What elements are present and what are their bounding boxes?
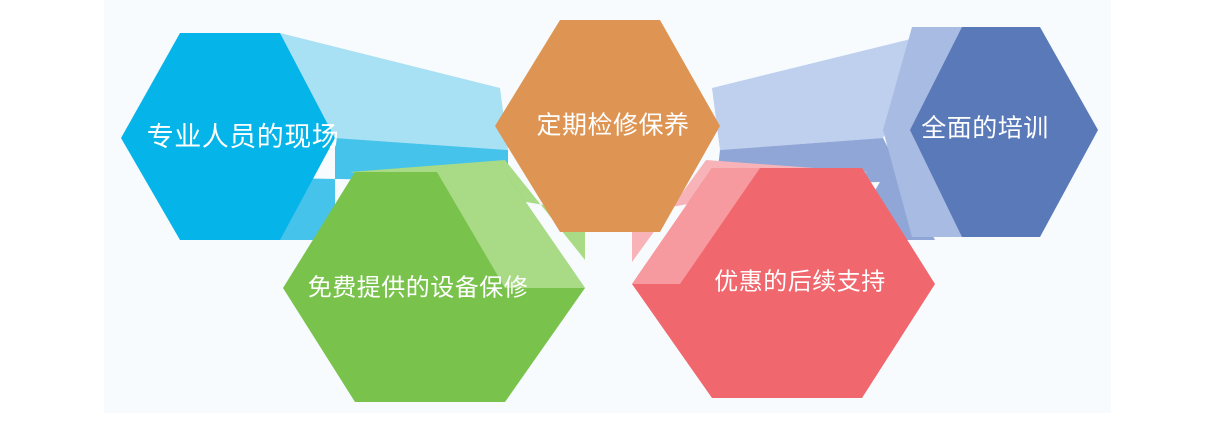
hexagon-diagram: 免费提供的设备保修 优惠的后续支持 专业人员的现场 定期检修保养 全面的培训 bbox=[0, 0, 1220, 424]
hexagon-warranty-label: 免费提供的设备保修 bbox=[308, 275, 529, 302]
hexagon-onsite-label: 专业人员的现场 bbox=[147, 122, 340, 152]
hexagon-support-label: 优惠的后续支持 bbox=[714, 269, 886, 296]
hexagon-maintenance-label: 定期检修保养 bbox=[536, 112, 689, 140]
hexagon-training-label: 全面的培训 bbox=[921, 115, 1049, 143]
infographic-canvas: 免费提供的设备保修 优惠的后续支持 专业人员的现场 定期检修保养 全面的培训 bbox=[0, 0, 1220, 424]
hexagon-node-training[interactable]: 全面的培训 bbox=[883, 27, 1098, 237]
